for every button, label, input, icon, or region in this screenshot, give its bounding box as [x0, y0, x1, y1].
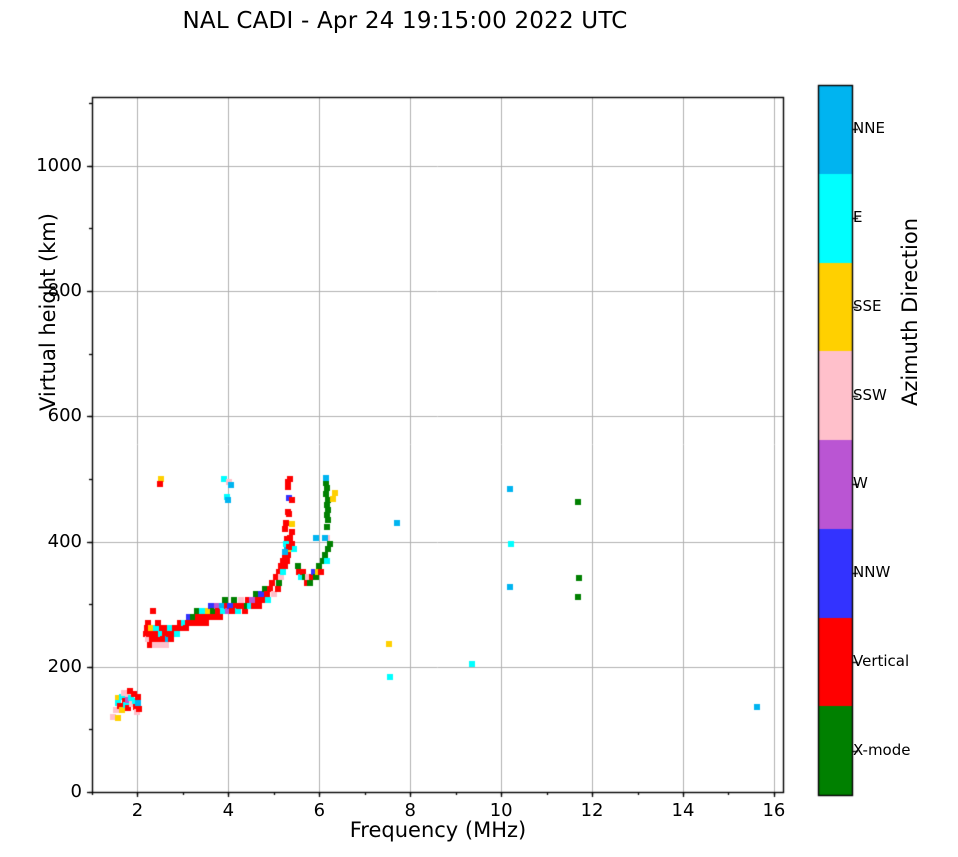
colorbar-tick-label-vertical: Vertical	[853, 652, 909, 670]
y-tick-label: 600	[22, 405, 82, 426]
colorbar-tick-label-nnw: NNW	[853, 563, 890, 581]
y-tick-label: 0	[22, 781, 82, 802]
x-tick-label: 4	[208, 800, 248, 821]
x-tick-label: 14	[663, 800, 703, 821]
x-tick-label: 2	[117, 800, 157, 821]
ionogram-plot-canvas	[0, 0, 958, 857]
ionogram-figure: NAL CADI - Apr 24 19:15:00 2022 UTC Virt…	[0, 0, 958, 857]
colorbar-label: Azimuth Direction	[898, 162, 922, 462]
colorbar-tick-label-x-mode: X-mode	[853, 741, 910, 759]
y-tick-label: 800	[22, 280, 82, 301]
y-tick-label: 400	[22, 531, 82, 552]
colorbar-tick-label-e: E	[853, 208, 862, 226]
y-tick-label: 200	[22, 656, 82, 677]
x-axis-label: Frequency (MHz)	[92, 818, 784, 842]
x-tick-label: 8	[390, 800, 430, 821]
y-tick-label: 1000	[22, 155, 82, 176]
colorbar-tick-label-nne: NNE	[853, 119, 885, 137]
colorbar-tick-label-ssw: SSW	[853, 386, 887, 404]
colorbar-tick-label-w: W	[853, 474, 868, 492]
colorbar-tick-label-sse: SSE	[853, 297, 882, 315]
x-tick-label: 12	[572, 800, 612, 821]
x-tick-label: 16	[754, 800, 794, 821]
x-tick-label: 10	[481, 800, 521, 821]
x-tick-label: 6	[299, 800, 339, 821]
